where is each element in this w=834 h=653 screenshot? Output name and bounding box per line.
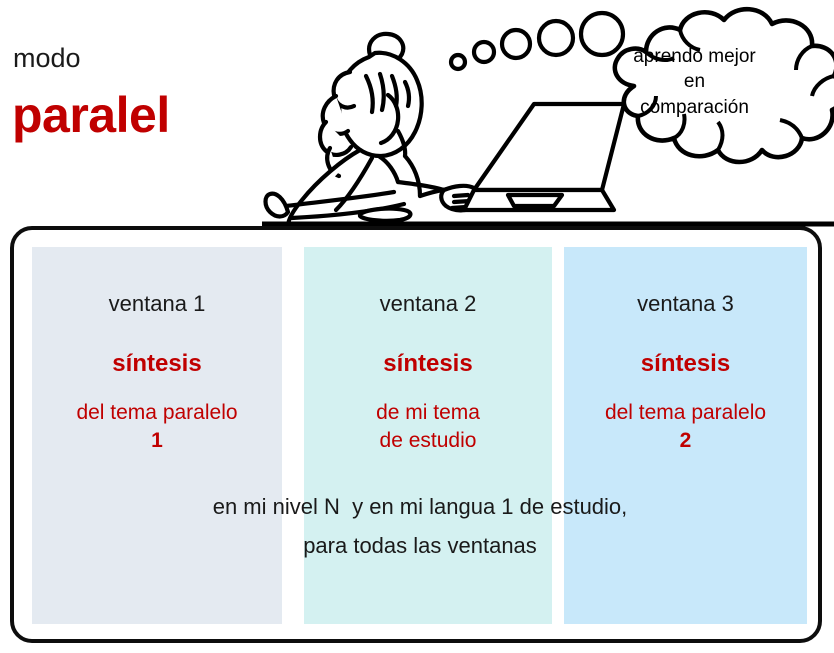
column-1-subtitle: del tema paralelo 1 (32, 399, 282, 454)
column-2-title: ventana 2 (304, 293, 552, 315)
eyebrow-label: modo (13, 45, 81, 72)
column-3-subtitle: del tema paralelo 2 (564, 399, 807, 454)
window-column-1[interactable]: ventana 1 síntesis del tema paralelo 1 (32, 247, 282, 624)
bubble-line-1: aprendo mejor (592, 44, 797, 69)
bubble-line-2: en (592, 69, 797, 94)
column-1-sub-line-1: del tema paralelo (32, 399, 282, 427)
column-3-synthesis: síntesis (564, 352, 807, 376)
window-column-3[interactable]: ventana 3 síntesis del tema paralelo 2 (564, 247, 807, 624)
panel-footer-note: en mi nivel N y en mi langua 1 de estudi… (14, 488, 822, 565)
column-1-title: ventana 1 (32, 293, 282, 315)
column-2-sub-line-2: de estudio (304, 427, 552, 455)
windows-panel: ventana 1 síntesis del tema paralelo 1 v… (10, 226, 822, 643)
column-1-sub-line-2: 1 (32, 427, 282, 455)
column-3-title: ventana 3 (564, 293, 807, 315)
footer-line-2: para todas las ventanas (14, 527, 822, 566)
column-2-sub-line-1: de mi tema (304, 399, 552, 427)
column-3-sub-line-2: 2 (564, 427, 807, 455)
column-2-synthesis: síntesis (304, 352, 552, 376)
footer-line-1: en mi nivel N y en mi langua 1 de estudi… (14, 488, 822, 527)
bubble-line-3: comparación (592, 95, 797, 120)
column-3-sub-line-1: del tema paralelo (564, 399, 807, 427)
column-2-subtitle: de mi tema de estudio (304, 399, 552, 454)
window-column-2[interactable]: ventana 2 síntesis de mi tema de estudio (304, 247, 552, 624)
thought-bubble-text: aprendo mejor en comparación (592, 44, 797, 120)
page-title: paralel (12, 90, 170, 140)
column-1-synthesis: síntesis (32, 352, 282, 376)
